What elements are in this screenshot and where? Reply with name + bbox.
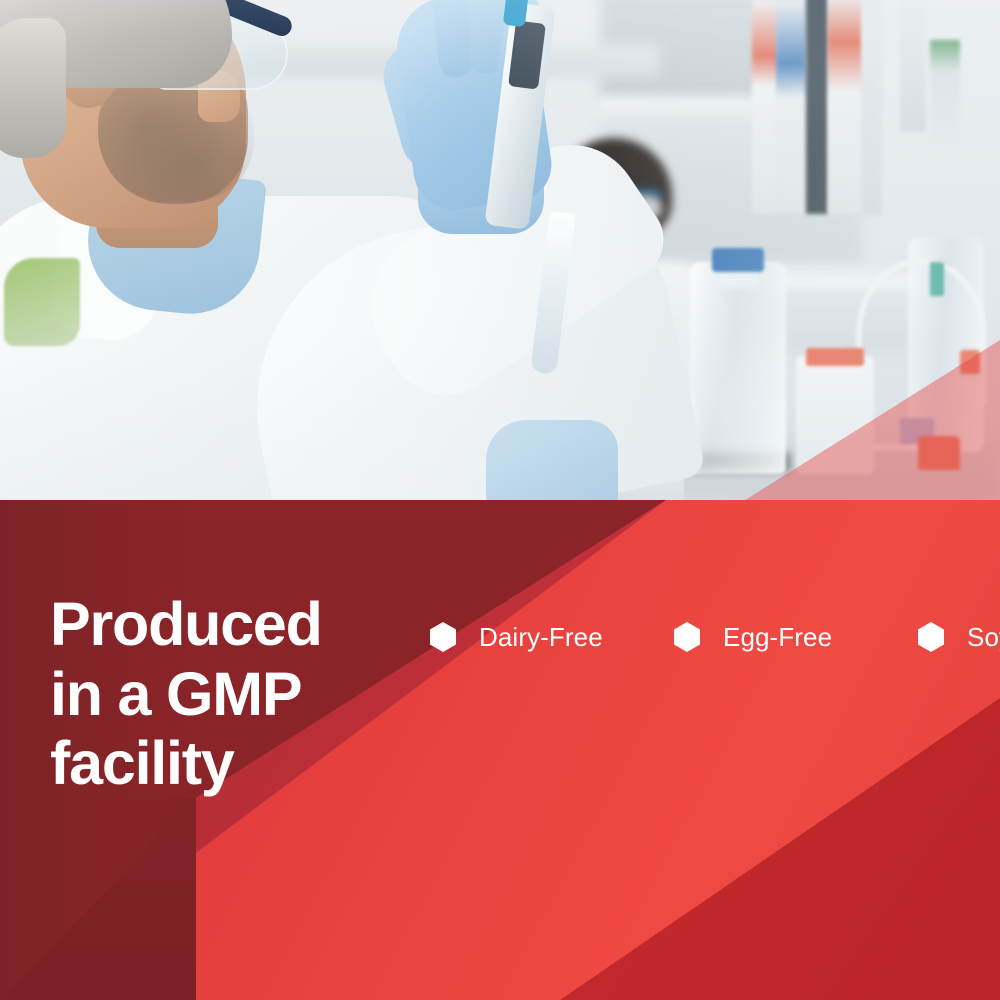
shelf-folder — [862, 0, 882, 216]
white-jug — [796, 356, 874, 474]
claims-panel: Produced in a GMP facility Dairy-Free Eg… — [0, 500, 1000, 1000]
headline-line-3: facility — [50, 729, 400, 799]
shelf-folder — [930, 40, 960, 160]
hexagon-bullet-icon — [918, 622, 944, 652]
red-bottle-cap — [960, 350, 980, 374]
list-item: Egg-Free — [674, 622, 918, 653]
claim-label: Egg-Free — [723, 622, 832, 653]
panel-content: Produced in a GMP facility Dairy-Free Eg… — [0, 500, 1000, 1000]
headline-line-1: Produced — [50, 590, 400, 660]
glass-bottle — [690, 262, 786, 474]
claims-list: Dairy-Free Egg-Free Soy-Free Yeast-Free … — [430, 604, 1000, 670]
banner-canvas: Produced in a GMP facility Dairy-Free Eg… — [0, 0, 1000, 1000]
red-stopper — [918, 436, 960, 470]
shelf-folder — [752, 0, 778, 214]
jug-cap — [806, 348, 864, 366]
shelf-folder — [776, 0, 806, 212]
shelf-folder — [900, 0, 926, 132]
scientist-head — [20, 0, 246, 228]
lab-photo — [0, 0, 1000, 502]
list-item: Dairy-Free — [430, 622, 674, 653]
scientist-hair-side — [0, 18, 66, 158]
shelf-folder — [806, 0, 828, 214]
headline-line-2: in a GMP — [50, 660, 400, 730]
scientist-lower-glove — [486, 420, 618, 502]
shelf-folder — [828, 0, 862, 214]
green-pipette-tip — [930, 262, 944, 296]
list-item: Soy-Free — [918, 622, 1000, 653]
blue-bottle-cap — [712, 248, 764, 272]
page-title: Produced in a GMP facility — [50, 590, 400, 799]
coat-green-mark — [4, 258, 80, 346]
claim-label: Soy-Free — [967, 622, 1000, 653]
hexagon-bullet-icon — [430, 622, 456, 652]
claim-label: Dairy-Free — [479, 622, 603, 653]
hexagon-bullet-icon — [674, 622, 700, 652]
